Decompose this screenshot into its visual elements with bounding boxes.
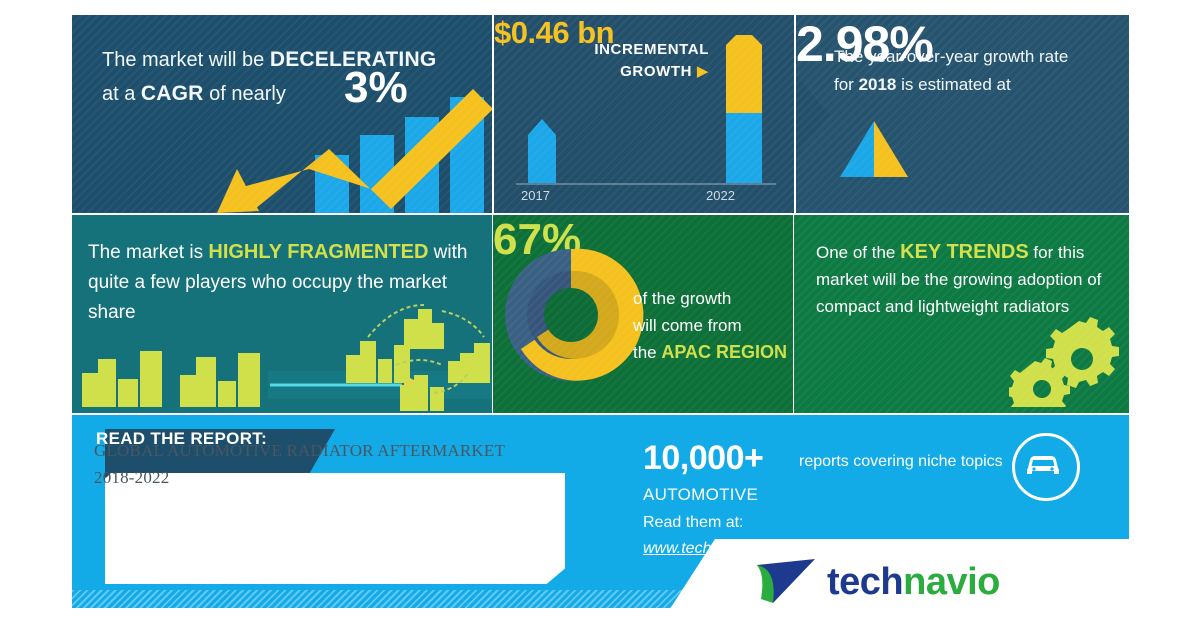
axis-label-2022: 2022 bbox=[706, 188, 735, 203]
panel-cagr: The market will be DECELERATING at a CAG… bbox=[72, 15, 492, 213]
panel-fragmented: The market is HIGHLY FRAGMENTED with qui… bbox=[72, 215, 492, 413]
sector-label: AUTOMOTIVE bbox=[643, 485, 758, 505]
incremental-growth-bar-chart bbox=[508, 35, 788, 195]
cagr-line2-bold: CAGR bbox=[141, 82, 204, 105]
panel-yoy-growth: The year-over-year growth rate for 2018 … bbox=[796, 15, 1129, 213]
apac-region-highlight: APAC REGION bbox=[661, 342, 787, 362]
trends-plain-a: One of the bbox=[816, 243, 900, 262]
fragmented-network-icon bbox=[342, 303, 492, 413]
cagr-line1-plain: The market will be bbox=[102, 49, 270, 71]
axis-label-2017: 2017 bbox=[521, 188, 550, 203]
panel-apac: 67% of the growth will come from the APA… bbox=[493, 215, 793, 413]
logo-tech: tech bbox=[827, 561, 903, 603]
growth-triangle-icon bbox=[836, 119, 916, 181]
car-badge bbox=[1012, 433, 1080, 501]
fragmented-plain-a: The market is bbox=[88, 242, 208, 263]
apac-statement: of the growth will come from the APAC RE… bbox=[633, 285, 793, 366]
panel-key-trends: One of the KEY TRENDS for this market wi… bbox=[794, 215, 1129, 413]
fragmented-highlight: HIGHLY FRAGMENTED bbox=[208, 241, 428, 263]
apac-line2: will come from bbox=[633, 316, 742, 335]
panel-incremental-growth: INCREMENTAL GROWTH ▶ $0.46 bn 2017 2022 bbox=[494, 15, 794, 213]
yoy-line2-bold: 2018 bbox=[859, 75, 897, 94]
logo-navio: navio bbox=[903, 561, 1000, 603]
yoy-line2-plain-b: is estimated at bbox=[896, 75, 1010, 94]
middle-row: The market is HIGHLY FRAGMENTED with qui… bbox=[72, 215, 1129, 413]
technavio-logo-band: technavio bbox=[657, 539, 1129, 608]
apac-donut-chart bbox=[499, 237, 649, 397]
yoy-line1: The year-over-year growth rate bbox=[834, 47, 1068, 66]
bar-2022 bbox=[726, 113, 762, 183]
read-them-at-label: Read them at: bbox=[643, 514, 744, 532]
report-count: 10,000+ bbox=[643, 439, 763, 478]
key-trends-statement: One of the KEY TRENDS for this market wi… bbox=[816, 239, 1106, 320]
yoy-line2-plain-a: for bbox=[834, 75, 859, 94]
technavio-wordmark: technavio bbox=[827, 561, 1000, 604]
infographic-canvas: The market will be DECELERATING at a CAG… bbox=[72, 15, 1129, 608]
footer-row: READ THE REPORT: GLOBAL AUTOMOTIVE RADIA… bbox=[72, 415, 1129, 608]
yoy-statement: The year-over-year growth rate for 2018 … bbox=[834, 43, 1114, 99]
report-count-suffix: reports covering niche topics bbox=[799, 453, 1003, 471]
car-icon bbox=[1021, 442, 1065, 486]
report-title: GLOBAL AUTOMOTIVE RADIATOR AFTERMARKET 2… bbox=[94, 437, 514, 491]
trends-highlight: KEY TRENDS bbox=[900, 241, 1029, 263]
top-row: The market will be DECELERATING at a CAG… bbox=[72, 15, 1129, 213]
chevron-notch-icon bbox=[796, 75, 836, 155]
cagr-line2-plain-a: at a bbox=[102, 83, 141, 105]
gears-icon bbox=[1009, 317, 1119, 407]
decelerating-bar-chart-icon bbox=[197, 83, 492, 213]
technavio-logo-mark-icon bbox=[751, 555, 821, 608]
apac-line1: of the growth bbox=[633, 289, 731, 308]
apac-line3-plain: the bbox=[633, 343, 661, 362]
bar-2017 bbox=[528, 119, 556, 183]
